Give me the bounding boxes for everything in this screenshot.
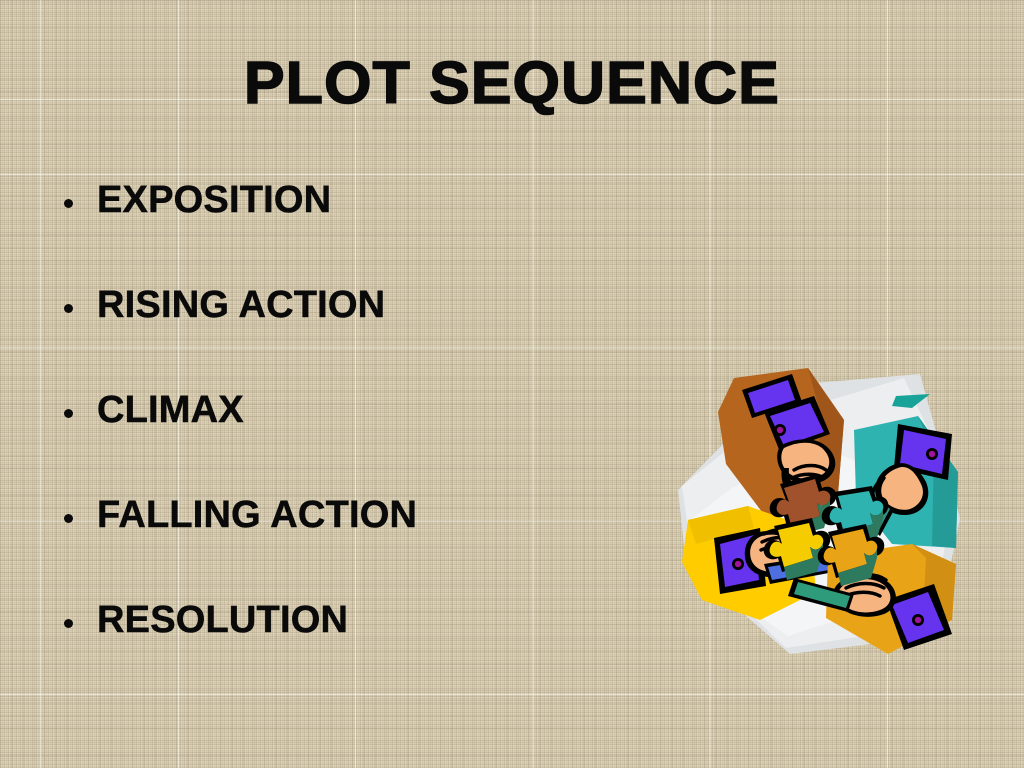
bullet-list: EXPOSITION RISING ACTION CLIMAX FALLING … xyxy=(58,178,678,703)
page-title: PLOT SEQUENCE xyxy=(0,52,1024,114)
list-item: EXPOSITION xyxy=(58,178,678,283)
list-item: FALLING ACTION xyxy=(58,493,678,598)
bullet-dot-icon xyxy=(64,199,73,208)
list-item: CLIMAX xyxy=(58,388,678,493)
bullet-dot-icon xyxy=(64,514,73,523)
list-item: RISING ACTION xyxy=(58,283,678,388)
bullet-label-rising-action: RISING ACTION xyxy=(97,283,385,327)
teamwork-puzzle-hands-clipart xyxy=(668,368,968,670)
bullet-label-climax: CLIMAX xyxy=(97,388,244,432)
bullet-label-resolution: RESOLUTION xyxy=(97,598,348,642)
bullet-dot-icon xyxy=(64,409,73,418)
bullet-dot-icon xyxy=(64,619,73,628)
bullet-dot-icon xyxy=(64,304,73,313)
bullet-label-exposition: EXPOSITION xyxy=(97,178,331,222)
slide-canvas: PLOT SEQUENCE EXPOSITION RISING ACTION C… xyxy=(0,0,1024,768)
bullet-label-falling-action: FALLING ACTION xyxy=(97,493,417,537)
list-item: RESOLUTION xyxy=(58,598,678,703)
